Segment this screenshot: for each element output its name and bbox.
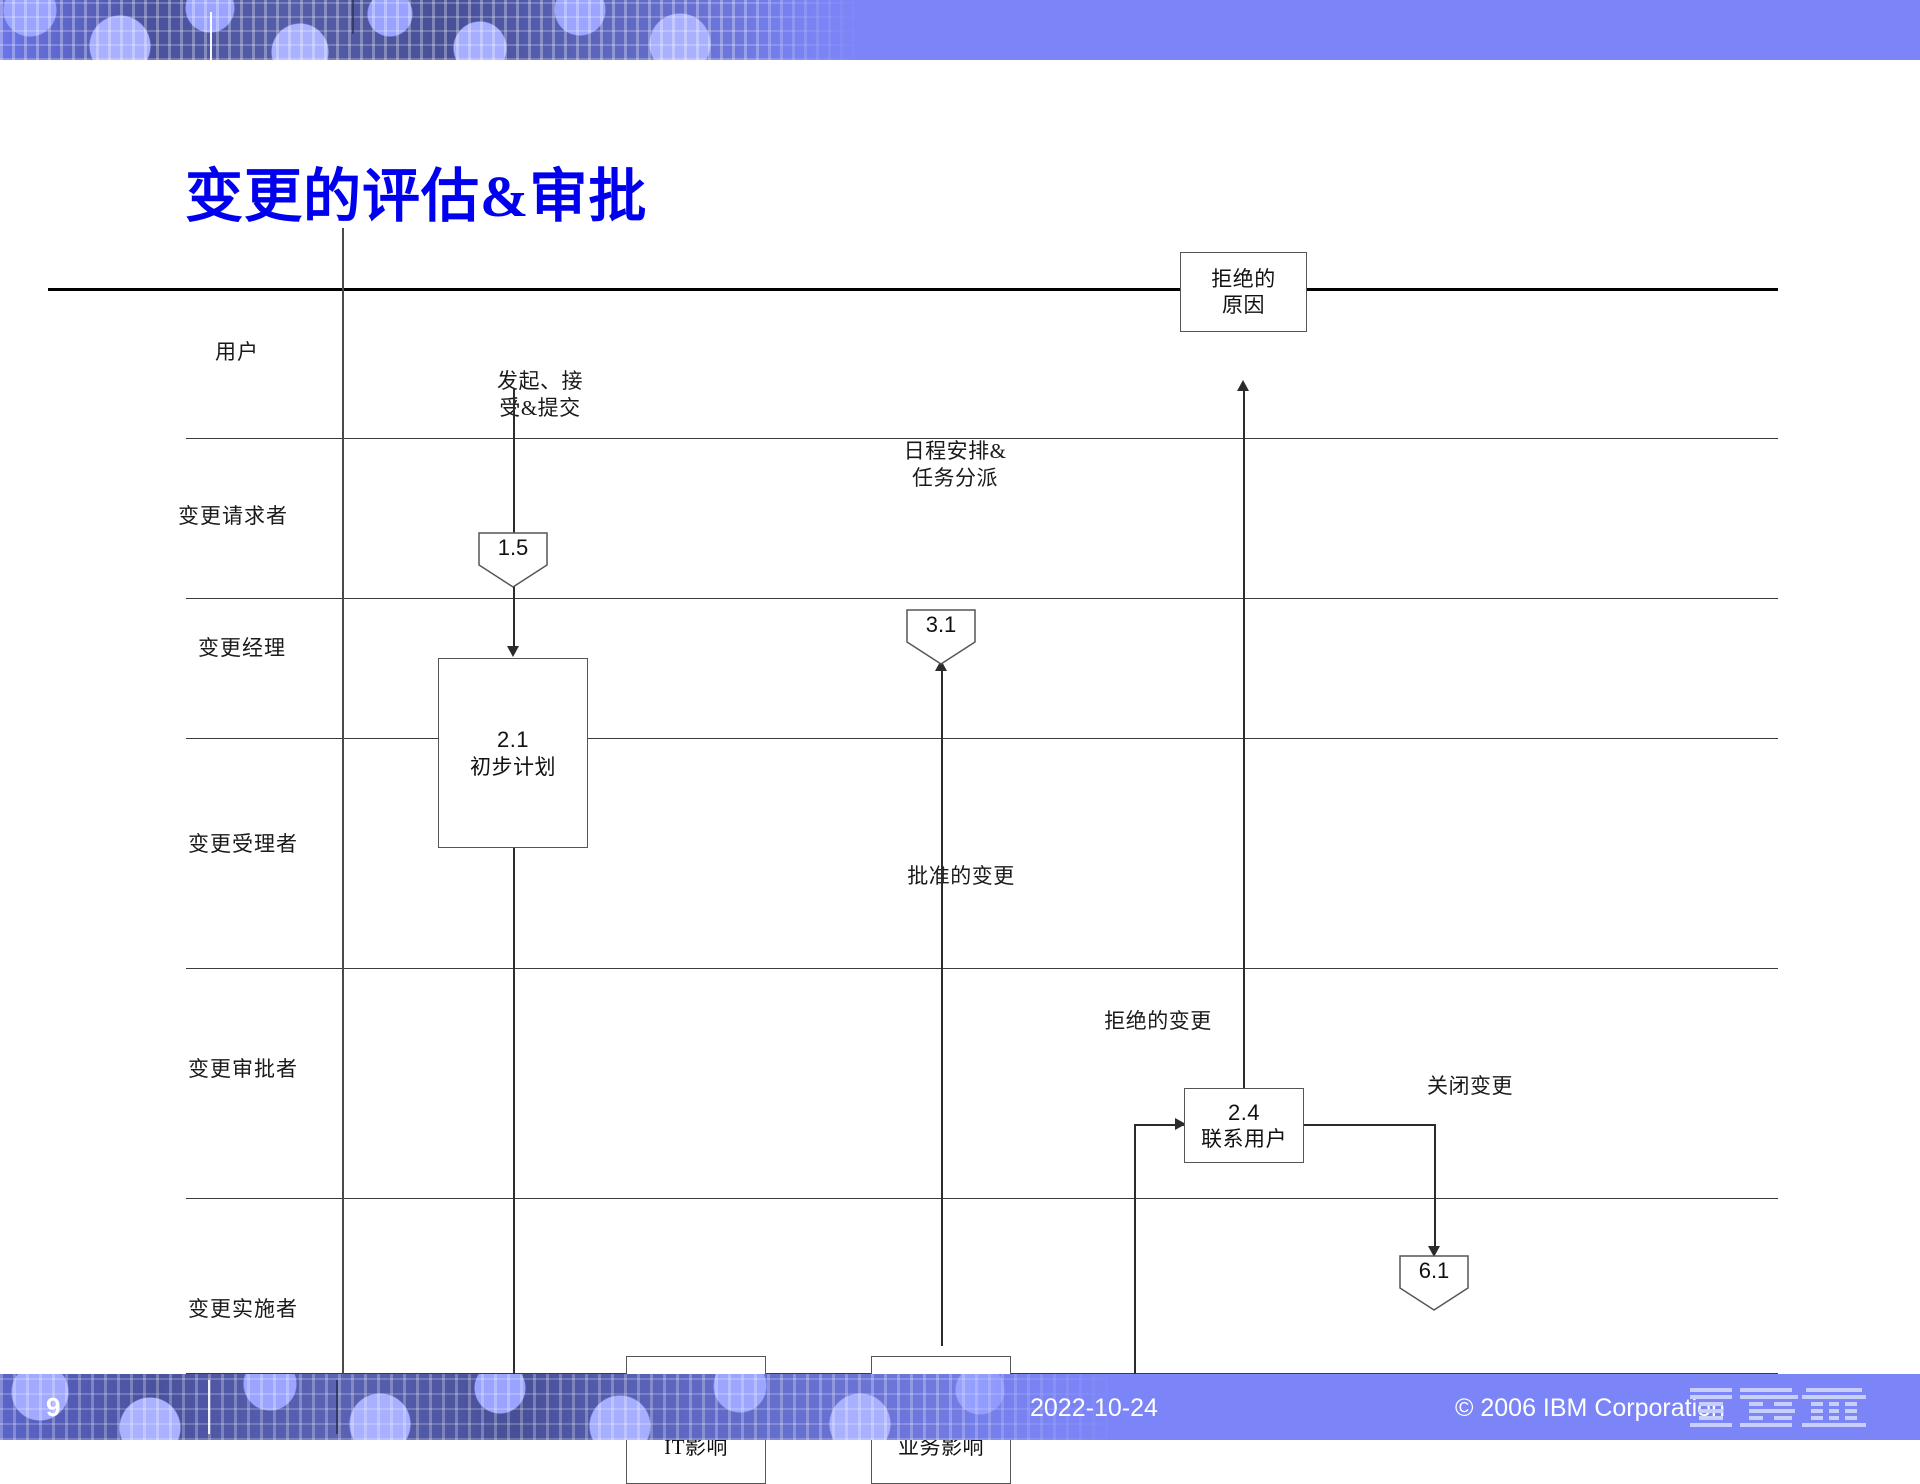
annotation-schedule-line2: 任务分派 xyxy=(912,466,998,490)
node-2_1[interactable]: 2.1 初步计划 xyxy=(438,658,588,848)
header-decoration xyxy=(0,0,860,60)
annotation-initiate: 发起、接 受&提交 xyxy=(460,368,620,423)
arrowhead-to-2_1 xyxy=(507,646,519,657)
annotation-approved-change: 批准的变更 xyxy=(866,863,1056,890)
header-tick-mark-dark xyxy=(352,0,354,34)
arrowhead-to-reject-reason xyxy=(1237,380,1249,391)
connector-2_3-to-3_1 xyxy=(941,666,943,1346)
connector-2_4-right xyxy=(1303,1124,1435,1126)
node-6_1-number: 6.1 xyxy=(1398,1258,1470,1284)
node-2_1-number: 2.1 xyxy=(497,726,529,754)
node-2_4-label: 联系用户 xyxy=(1201,1126,1287,1152)
annotation-initiate-line2: 受&提交 xyxy=(499,396,580,420)
connector-2_4-to-reject-reason xyxy=(1243,386,1245,1092)
footer-copyright: © 2006 IBM Corporation xyxy=(1455,1394,1725,1423)
node-2_4-number: 2.4 xyxy=(1228,1099,1260,1127)
node-6_1[interactable]: 6.1 xyxy=(1398,1254,1470,1312)
node-reject-reason[interactable]: 拒绝的 原因 xyxy=(1180,252,1307,332)
node-3_1[interactable]: 3.1 xyxy=(905,608,977,666)
lane-separator xyxy=(186,968,1778,969)
footer-date: 2022-10-24 xyxy=(1030,1394,1158,1423)
node-reject-reason-line1: 拒绝的 xyxy=(1211,266,1276,292)
page-title: 变更的评估&审批 xyxy=(185,168,647,226)
lane-label-approver: 变更审批者 xyxy=(188,1053,298,1083)
annotation-rejected-change: 拒绝的变更 xyxy=(1063,1008,1253,1035)
connector-1_5-to-2_1 xyxy=(513,388,515,650)
node-1_5-number: 1.5 xyxy=(477,535,549,561)
ibm-logo xyxy=(1690,1388,1886,1430)
node-2_1-label: 初步计划 xyxy=(470,754,556,780)
lane-label-divider xyxy=(342,228,344,1378)
lane-label-requester: 变更请求者 xyxy=(178,500,288,530)
footer-tick-mark xyxy=(208,1380,210,1434)
lane-label-acceptor: 变更受理者 xyxy=(188,828,298,858)
annotation-initiate-line1: 发起、接 xyxy=(497,369,583,393)
footer-decoration xyxy=(0,1374,1120,1440)
header-banner xyxy=(0,0,1920,60)
slide: 变更的评估&审批 用户 变更请求者 变更经理 变更受理者 变更审批者 变更实施者… xyxy=(0,0,1920,1440)
swimlane-diagram: 用户 变更请求者 变更经理 变更受理者 变更审批者 变更实施者 发起、接 受&提… xyxy=(0,288,1920,1378)
node-2_4[interactable]: 2.4 联系用户 xyxy=(1184,1088,1304,1163)
connector-2_4-to-6_1 xyxy=(1434,1124,1436,1251)
lane-label-user: 用户 xyxy=(215,336,259,366)
lane-separator xyxy=(186,738,1778,739)
node-reject-reason-line2: 原因 xyxy=(1222,292,1265,318)
footer-tick-mark-dark xyxy=(336,1380,338,1434)
header-tick-mark xyxy=(210,12,212,60)
lane-label-manager: 变更经理 xyxy=(198,632,286,662)
node-1_5[interactable]: 1.5 xyxy=(477,531,549,589)
annotation-close-change: 关闭变更 xyxy=(1390,1073,1550,1100)
lane-separator xyxy=(186,1198,1778,1199)
annotation-schedule-line1: 日程安排& xyxy=(904,439,1007,463)
connector-2_1-down xyxy=(513,848,515,1421)
footer-banner: 9 2022-10-24 © 2006 IBM Corporation xyxy=(0,1374,1920,1440)
node-3_1-number: 3.1 xyxy=(905,612,977,638)
lane-label-implementer: 变更实施者 xyxy=(188,1293,298,1323)
page-number: 9 xyxy=(46,1392,60,1423)
annotation-schedule: 日程安排& 任务分派 xyxy=(860,438,1050,493)
lane-separator xyxy=(186,598,1778,599)
